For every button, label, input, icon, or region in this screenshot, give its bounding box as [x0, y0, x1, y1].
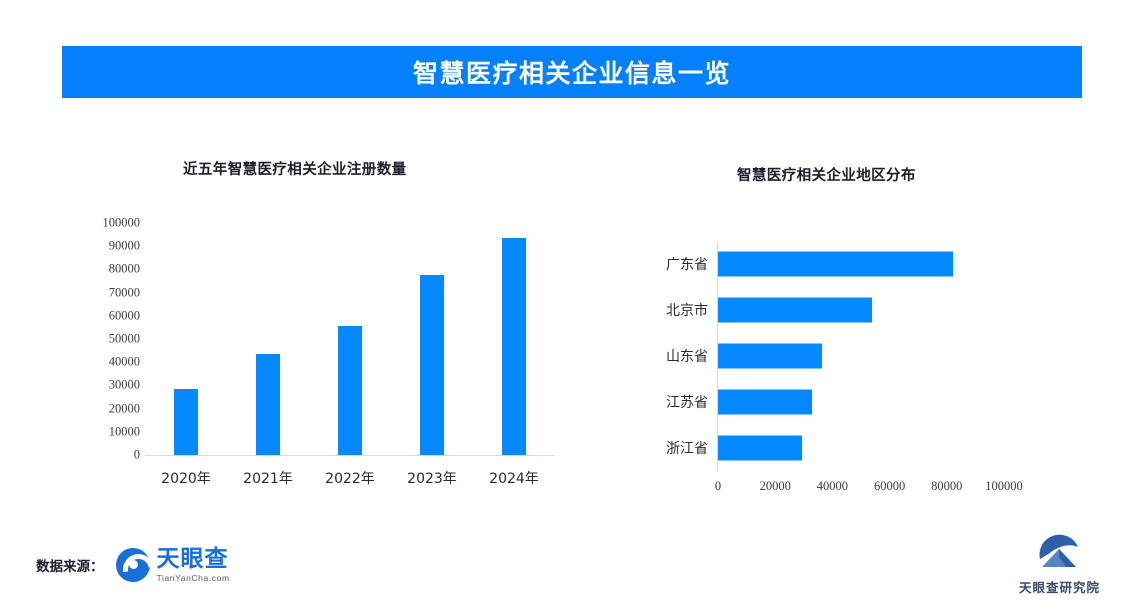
region-label-江苏省: 江苏省: [620, 392, 708, 412]
bar-2020年: [174, 389, 198, 455]
y-axis-tick-label: 40000: [66, 355, 140, 370]
x-axis-label: 2020年: [145, 468, 227, 488]
infographic-page: 智慧医疗相关企业信息一览 近五年智慧医疗相关企业注册数量 智慧医疗相关企业地区分…: [0, 0, 1136, 613]
y-axis-tick-label: 30000: [66, 378, 140, 393]
region-label-北京市: 北京市: [620, 300, 708, 320]
tianyancha-brand-cn: 天眼查: [157, 548, 230, 571]
tianyancha-eye-icon: [116, 548, 150, 582]
x-axis-tick-label: 100000: [985, 479, 1023, 494]
bar-2023年: [420, 275, 444, 455]
left-chart-title: 近五年智慧医疗相关企业注册数量: [183, 158, 407, 179]
tianyancha-logo: 天眼查 TianYanCha.com: [116, 548, 230, 583]
y-axis-tick-label: 0: [66, 448, 140, 463]
y-axis-tick-label: 90000: [66, 239, 140, 254]
y-axis-tick-label: 80000: [66, 262, 140, 277]
x-axis-line: [145, 455, 555, 456]
x-axis-label: 2022年: [309, 468, 391, 488]
institute-name: 天眼查研究院: [1019, 577, 1100, 596]
source-label: 数据来源：: [36, 555, 104, 575]
x-axis-tick-label: 40000: [817, 479, 848, 494]
y-axis-tick-label: 60000: [66, 308, 140, 323]
bar-浙江省: [718, 436, 802, 461]
bar-2022年: [338, 326, 362, 455]
bar-江苏省: [718, 390, 812, 415]
y-axis-tick-label: 20000: [66, 401, 140, 416]
y-axis-tick-label: 10000: [66, 424, 140, 439]
x-axis-tick-label: 80000: [931, 479, 962, 494]
registration-count-bar-chart: 0100002000030000400005000060000700008000…: [70, 218, 570, 498]
region-label-广东省: 广东省: [620, 254, 708, 274]
region-label-浙江省: 浙江省: [620, 438, 708, 458]
x-axis-label: 2023年: [391, 468, 473, 488]
mountain-arc-icon: [1036, 533, 1082, 573]
region-distribution-bar-chart: 广东省北京市山东省江苏省浙江省 020000400006000080000100…: [620, 236, 1050, 506]
bar-北京市: [718, 298, 872, 323]
y-axis-tick-label: 50000: [66, 332, 140, 347]
bar-2021年: [256, 354, 280, 455]
x-axis-tick-label: 0: [715, 479, 721, 494]
vertical-bars-plot-area: [145, 223, 555, 455]
tianyancha-wordmark: 天眼查 TianYanCha.com: [157, 548, 230, 583]
right-chart-title: 智慧医疗相关企业地区分布: [737, 164, 916, 185]
bar-广东省: [718, 252, 953, 277]
footer-source: 数据来源： 天眼查 TianYanCha.com: [36, 548, 230, 583]
x-axis-tick-label: 20000: [760, 479, 791, 494]
region-label-山东省: 山东省: [620, 346, 708, 366]
page-title: 智慧医疗相关企业信息一览: [413, 54, 731, 90]
y-axis-tick-label: 100000: [66, 216, 140, 231]
tianyancha-brand-en: TianYanCha.com: [157, 574, 230, 583]
institute-logo: 天眼查研究院: [1019, 533, 1100, 596]
bar-2024年: [502, 238, 526, 455]
y-axis-tick-labels: 0100002000030000400005000060000700008000…: [70, 223, 140, 455]
y-axis-tick-label: 70000: [66, 285, 140, 300]
header-banner: 智慧医疗相关企业信息一览: [62, 46, 1082, 98]
bar-山东省: [718, 344, 822, 369]
x-axis-tick-label: 60000: [874, 479, 905, 494]
x-axis-label: 2024年: [473, 468, 555, 488]
x-axis-label: 2021年: [227, 468, 309, 488]
